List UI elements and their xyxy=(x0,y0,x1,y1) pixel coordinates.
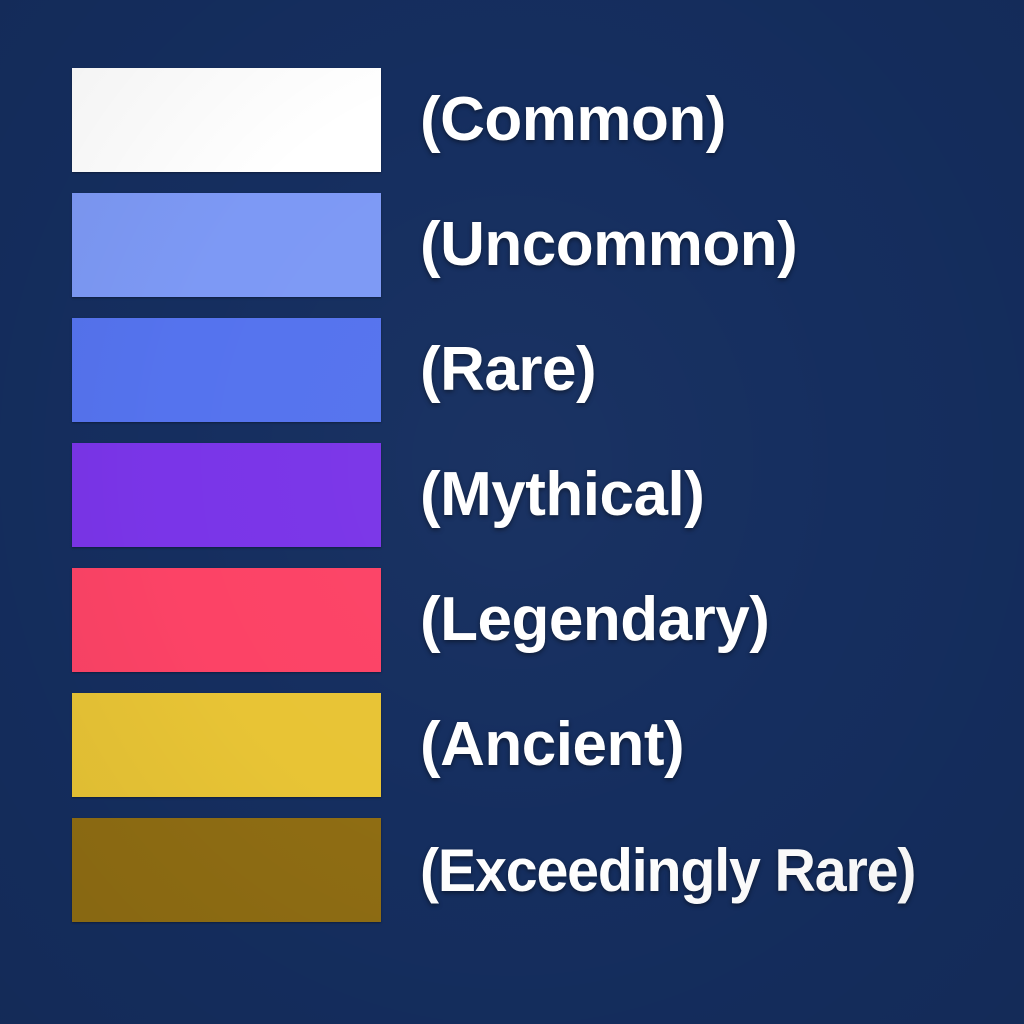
rarity-legend-canvas: (Common) (Uncommon) (Rare) (Mythical) (L xyxy=(0,0,1024,1024)
rarity-label-rare: (Rare) xyxy=(420,337,596,402)
rarity-label-ancient: (Ancient) xyxy=(420,712,684,777)
swatch-uncommon[interactable] xyxy=(72,193,381,297)
swatch-exceedingly-rare[interactable] xyxy=(72,818,381,922)
list-item[interactable]: (Common) xyxy=(72,68,1002,172)
list-item[interactable]: (Rare) xyxy=(72,318,1002,422)
swatch-uncommon-fill xyxy=(72,193,381,297)
rarity-label-common: (Common) xyxy=(420,87,726,152)
rarity-legend-list: (Common) (Uncommon) (Rare) (Mythical) (L xyxy=(72,68,1002,922)
swatch-rare-fill xyxy=(72,318,381,422)
swatch-common-fill xyxy=(72,68,381,172)
list-item[interactable]: (Mythical) xyxy=(72,443,1002,547)
list-item[interactable]: (Legendary) xyxy=(72,568,1002,672)
swatch-mythical[interactable] xyxy=(72,443,381,547)
rarity-label-uncommon: (Uncommon) xyxy=(420,212,797,277)
rarity-label-mythical: (Mythical) xyxy=(420,462,704,527)
swatch-common[interactable] xyxy=(72,68,381,172)
swatch-legendary-fill xyxy=(72,568,381,672)
swatch-mythical-fill xyxy=(72,443,381,547)
swatch-ancient[interactable] xyxy=(72,693,381,797)
list-item[interactable]: (Exceedingly Rare) xyxy=(72,818,1002,922)
swatch-ancient-fill xyxy=(72,693,381,797)
swatch-legendary[interactable] xyxy=(72,568,381,672)
swatch-rare[interactable] xyxy=(72,318,381,422)
swatch-exceedingly-rare-fill xyxy=(72,818,381,922)
list-item[interactable]: (Ancient) xyxy=(72,693,1002,797)
rarity-label-legendary: (Legendary) xyxy=(420,587,769,652)
list-item[interactable]: (Uncommon) xyxy=(72,193,1002,297)
rarity-label-exceedingly-rare: (Exceedingly Rare) xyxy=(420,839,915,902)
